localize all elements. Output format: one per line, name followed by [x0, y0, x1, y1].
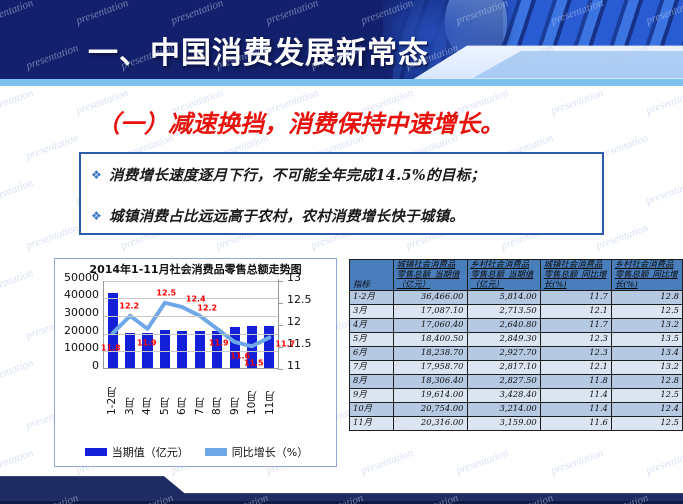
chart-data-label: 11.9	[137, 339, 157, 348]
watermark-text: presentation	[0, 357, 35, 387]
chart-x-tick-label: 9月	[227, 373, 242, 415]
chart-x-tick-label: 7月	[192, 373, 207, 415]
table-cell-index: 8月	[350, 374, 394, 388]
table-row: 7月17,958.702,817.1012.113.2	[350, 360, 683, 374]
table-cell-value: 2,827.50	[467, 374, 540, 388]
chart-y-tick-right: 11	[287, 359, 301, 372]
table-cell-value: 12.5	[611, 388, 682, 402]
chart-y-tick-left: 40000	[64, 288, 99, 301]
chart-x-cell: 11月	[261, 373, 279, 415]
table-cell-value: 11.6	[540, 416, 611, 430]
table-cell-index: 1-2月	[350, 290, 394, 304]
watermark-text: presentation	[25, 132, 80, 162]
legend-swatch-bar	[85, 448, 107, 456]
watermark-text: presentation	[0, 267, 35, 297]
table-cell-value: 5,814.00	[467, 290, 540, 304]
table-row: 9月19,614.003,428.4011.412.5	[350, 388, 683, 402]
chart-y-tick-right: 12.5	[287, 293, 312, 306]
table-cell-value: 3,159.00	[467, 416, 540, 430]
table-cell-value: 17,060.40	[393, 318, 467, 332]
table-cell-value: 12.8	[611, 290, 682, 304]
table-cell-value: 11.4	[540, 402, 611, 416]
chart-x-tick-label: 6月	[174, 373, 189, 415]
chart-x-cell: 6月	[173, 373, 191, 415]
chart-y-axis-left: 01000020000300004000050000	[55, 275, 101, 371]
chart-x-tick-label: 1-2月	[104, 373, 119, 415]
legend-swatch-line	[205, 448, 227, 456]
table-cell-value: 13.2	[611, 360, 682, 374]
table-header-row: 指标 城镇社会消费品零售总额_当期值（亿元） 乡村社会消费品零售总额_当期值（亿…	[350, 260, 683, 291]
chart-x-cell: 9月	[226, 373, 244, 415]
table-cell-value: 12.3	[540, 332, 611, 346]
table-cell-value: 17,958.70	[393, 360, 467, 374]
table-cell-value: 12.5	[611, 416, 682, 430]
chart-y-tick-left: 50000	[64, 271, 99, 284]
watermark-text: presentation	[645, 447, 683, 477]
table-cell-value: 19,614.00	[393, 388, 467, 402]
retail-sales-chart: 2014年1-11月社会消费品零售总额走势图 01000020000300004…	[54, 258, 337, 467]
table-cell-index: 7月	[350, 360, 394, 374]
column-header-urban-value: 城镇社会消费品零售总额_当期值（亿元）	[393, 260, 467, 291]
bullet-callout-box: ❖ 消费增长速度逐月下行，不可能全年完成14.5%的目标； ❖ 城镇消费占比远远…	[79, 152, 604, 235]
table-cell-value: 12.4	[611, 402, 682, 416]
table-row: 4月17,060.402,640.8011.713.2	[350, 318, 683, 332]
chart-data-label: 12.4	[186, 295, 206, 304]
table-row: 8月18,306.402,827.5011.812.8	[350, 374, 683, 388]
table-cell-index: 5月	[350, 332, 394, 346]
table-cell-index: 6月	[350, 346, 394, 360]
chart-gridline	[104, 281, 278, 282]
chart-gridline	[104, 351, 278, 352]
chart-x-tick-label: 8月	[209, 373, 224, 415]
table-row: 11月20,316.003,159.0011.612.5	[350, 416, 683, 430]
chart-data-label: 11.8	[101, 343, 121, 352]
chart-plot-area: 01000020000300004000050000 1111.51212.51…	[55, 277, 338, 389]
table-cell-value: 3,428.40	[467, 388, 540, 402]
chart-x-cell: 7月	[191, 373, 209, 415]
section-subtitle: （一）减速换挡，消费保持中速增长。	[96, 104, 504, 139]
legend-label-bar: 当期值（亿元）	[112, 444, 189, 460]
chart-x-tick-label: 11月	[262, 373, 277, 415]
table-cell-value: 36,466.00	[393, 290, 467, 304]
diamond-bullet-icon: ❖	[91, 169, 109, 181]
chart-y-tick-left: 20000	[64, 324, 99, 337]
table-cell-index: 9月	[350, 388, 394, 402]
table-cell-value: 13.2	[611, 318, 682, 332]
table-header: 指标 城镇社会消费品零售总额_当期值（亿元） 乡村社会消费品零售总额_当期值（亿…	[350, 260, 683, 291]
table-cell-value: 2,713.50	[467, 304, 540, 318]
diamond-bullet-icon: ❖	[91, 210, 109, 222]
chart-x-cell: 10月	[243, 373, 261, 415]
chart-y-tickmark-right	[278, 369, 283, 370]
table-cell-value: 18,306.40	[393, 374, 467, 388]
legend-item-bar: 当期值（亿元）	[85, 444, 189, 460]
chart-x-tick-label: 5月	[157, 373, 172, 415]
watermark-text: presentation	[645, 177, 683, 207]
legend-item-line: 同比增长（%）	[205, 444, 308, 460]
slide-footer-band	[0, 470, 683, 504]
chart-data-label: 12.5	[156, 288, 176, 297]
table-cell-value: 2,849.30	[467, 332, 540, 346]
column-header-rural-growth: 乡村社会消费品零售总额_同比增长(%)	[611, 260, 682, 291]
watermark-text: presentation	[550, 87, 605, 117]
chart-y-axis-right: 1111.51212.513	[283, 275, 329, 371]
chart-x-cell: 5月	[156, 373, 174, 415]
chart-y-tick-left: 30000	[64, 306, 99, 319]
chart-data-label: 11.7	[275, 339, 295, 348]
table-row: 5月18,400.502,849.3012.313.5	[350, 332, 683, 346]
chart-data-label: 12.2	[197, 303, 217, 312]
column-header-urban-growth: 城镇社会消费品零售总额_同比增长(%)	[540, 260, 611, 291]
table-cell-index: 10月	[350, 402, 394, 416]
watermark-text: presentation	[645, 87, 683, 117]
watermark-text: presentation	[0, 447, 35, 477]
chart-x-cell: 8月	[208, 373, 226, 415]
table-cell-value: 12.1	[540, 304, 611, 318]
table-cell-value: 11.7	[540, 318, 611, 332]
chart-x-axis: 1-2月3月4月5月6月7月8月9月10月11月	[103, 373, 278, 415]
table-cell-value: 20,754.00	[393, 402, 467, 416]
table-row: 3月17,087.102,713.5012.112.5	[350, 304, 683, 318]
bullet-text: 城镇消费占比远远高于农村，农村消费增长快于城镇。	[109, 205, 464, 226]
table-row: 10月20,754.003,214.0011.412.4	[350, 402, 683, 416]
header-underline-rule	[0, 79, 683, 86]
table-cell-value: 11.7	[540, 290, 611, 304]
table-cell-value: 12.3	[540, 346, 611, 360]
chart-x-cell: 1-2月	[103, 373, 121, 415]
watermark-text: presentation	[25, 222, 80, 252]
table-cell-index: 11月	[350, 416, 394, 430]
column-header-index: 指标	[350, 260, 394, 291]
table-cell-value: 18,400.50	[393, 332, 467, 346]
chart-right-axis-spine	[278, 279, 279, 369]
chart-data-label: 11.5	[244, 358, 264, 367]
table-cell-value: 12.8	[611, 374, 682, 388]
table-cell-value: 18,238.70	[393, 346, 467, 360]
watermark-text: presentation	[455, 447, 510, 477]
table-cell-value: 2,927.70	[467, 346, 540, 360]
chart-gridline	[104, 334, 278, 335]
page-title: 一、中国消费发展新常态	[88, 28, 429, 72]
chart-gridline	[104, 316, 278, 317]
retail-sales-table: 指标 城镇社会消费品零售总额_当期值（亿元） 乡村社会消费品零售总额_当期值（亿…	[349, 259, 683, 431]
chart-x-tick-label: 10月	[244, 373, 259, 415]
table-cell-value: 12.1	[540, 360, 611, 374]
chart-x-tick-label: 3月	[122, 373, 137, 415]
table-cell-index: 4月	[350, 318, 394, 332]
table-cell-value: 13.4	[611, 346, 682, 360]
watermark-text: presentation	[0, 177, 35, 207]
table-cell-value: 17,087.10	[393, 304, 467, 318]
legend-label-line: 同比增长（%）	[232, 444, 308, 460]
chart-legend: 当期值（亿元） 同比增长（%）	[55, 444, 338, 460]
table-row: 6月18,238.702,927.7012.313.4	[350, 346, 683, 360]
chart-x-cell: 4月	[138, 373, 156, 415]
table-body: 1-2月36,466.005,814.0011.712.83月17,087.10…	[350, 290, 683, 430]
chart-y-tick-right: 12	[287, 315, 301, 328]
table-cell-index: 3月	[350, 304, 394, 318]
table-cell-value: 11.4	[540, 388, 611, 402]
table-cell-value: 2,817.10	[467, 360, 540, 374]
chart-y-tick-left: 10000	[64, 341, 99, 354]
chart-x-cell: 3月	[121, 373, 139, 415]
chart-y-tick-right: 13	[287, 271, 301, 284]
chart-data-label: 11.9	[209, 339, 229, 348]
table-cell-value: 20,316.00	[393, 416, 467, 430]
chart-y-tick-left: 0	[92, 359, 99, 372]
watermark-text: presentation	[360, 447, 415, 477]
bullet-text: 消费增长速度逐月下行，不可能全年完成14.5%的目标；	[109, 164, 485, 185]
table-cell-value: 12.5	[611, 304, 682, 318]
list-item: ❖ 消费增长速度逐月下行，不可能全年完成14.5%的目标；	[81, 154, 602, 195]
chart-data-label: 12.2	[119, 301, 139, 310]
table-cell-value: 3,214.00	[467, 402, 540, 416]
column-header-rural-value: 乡村社会消费品零售总额_当期值（亿元）	[467, 260, 540, 291]
watermark-text: presentation	[550, 447, 605, 477]
list-item: ❖ 城镇消费占比远远高于农村，农村消费增长快于城镇。	[81, 195, 602, 236]
table-cell-value: 2,640.80	[467, 318, 540, 332]
table-row: 1-2月36,466.005,814.0011.712.8	[350, 290, 683, 304]
watermark-text: presentation	[0, 87, 35, 117]
table-cell-value: 13.5	[611, 332, 682, 346]
table-cell-value: 11.8	[540, 374, 611, 388]
chart-x-tick-label: 4月	[139, 373, 154, 415]
